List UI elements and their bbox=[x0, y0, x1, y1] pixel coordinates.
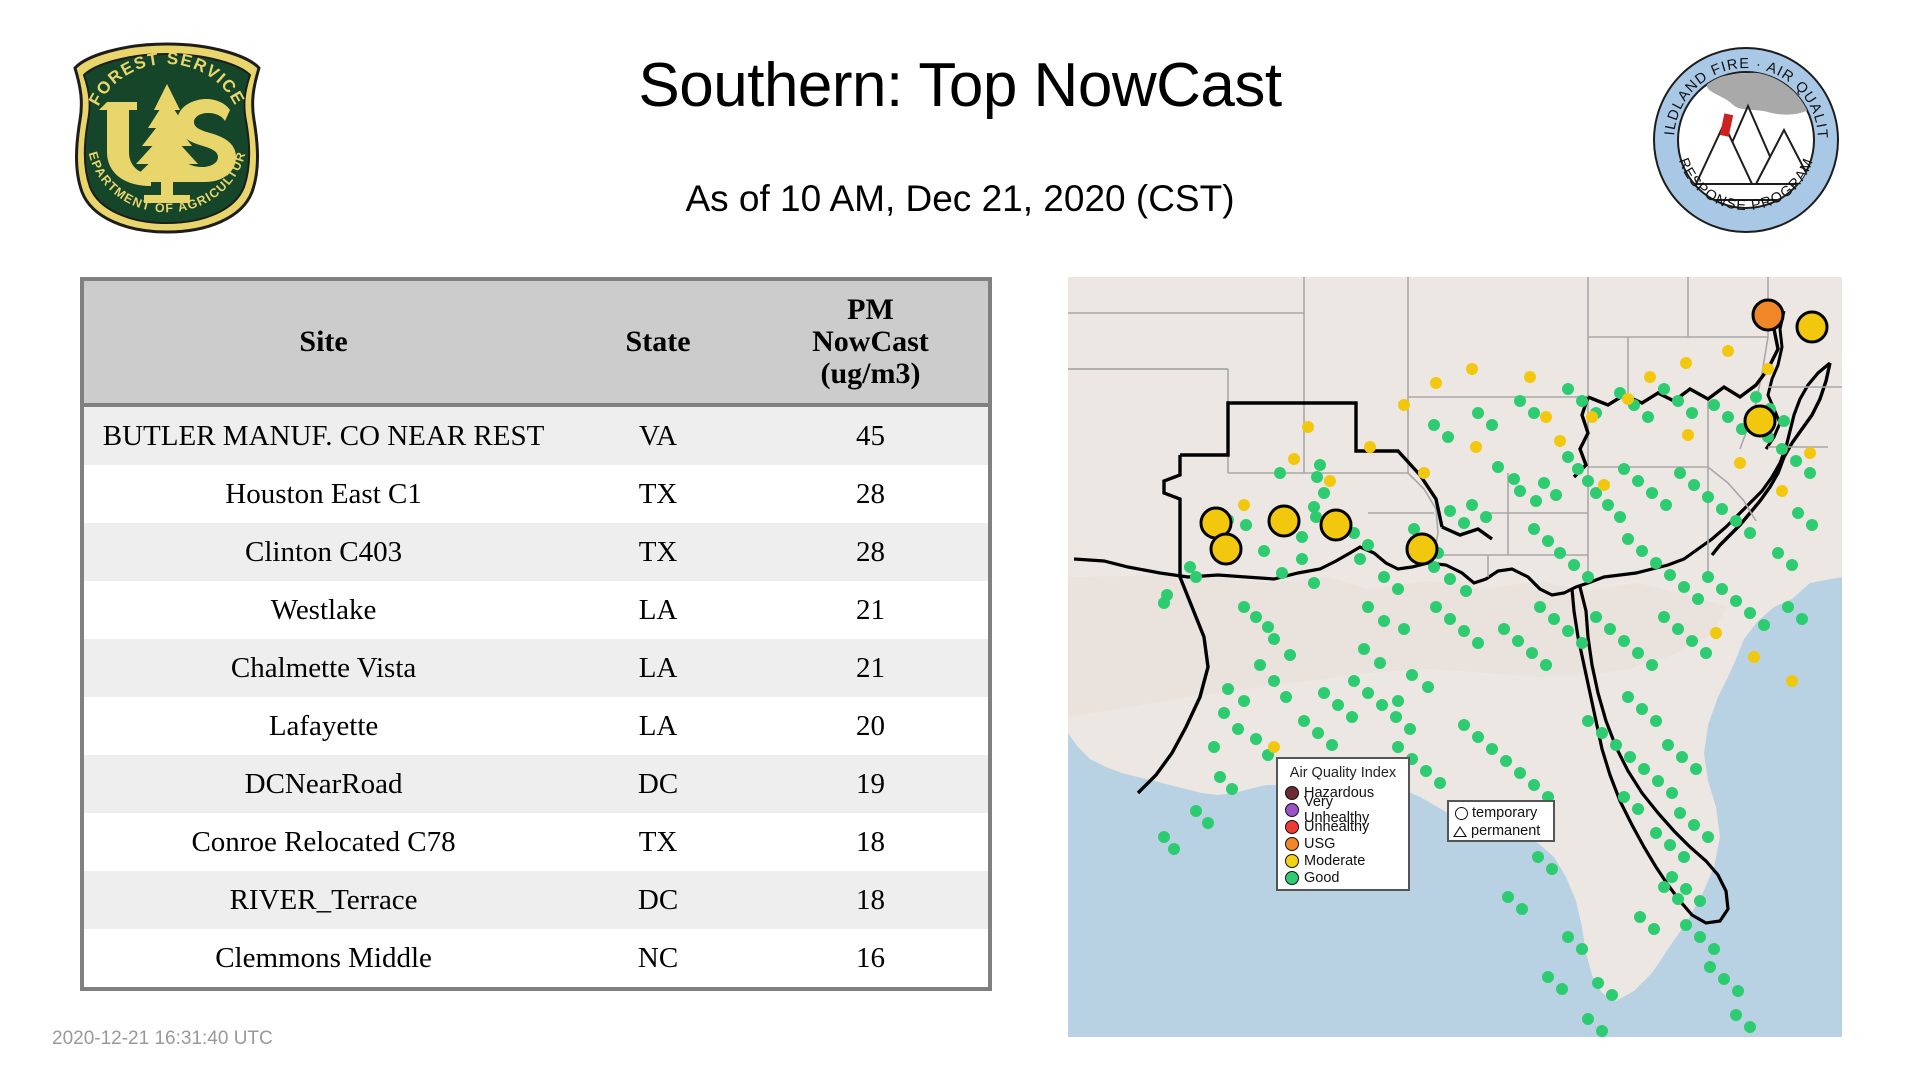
monitor-dot-good[interactable] bbox=[1308, 577, 1320, 589]
cell-state: NC bbox=[563, 929, 753, 987]
monitor-dot-good[interactable] bbox=[1658, 881, 1670, 893]
monitor-dot-good[interactable] bbox=[1604, 623, 1616, 635]
monitor-dot-good[interactable] bbox=[1750, 391, 1762, 403]
monitor-dot-good[interactable] bbox=[1686, 407, 1698, 419]
monitor-dot-good[interactable] bbox=[1362, 687, 1374, 699]
monitor-dot-good[interactable] bbox=[1662, 739, 1674, 751]
monitor-dot-moderate[interactable] bbox=[1364, 441, 1376, 453]
monitor-dot-good[interactable] bbox=[1618, 791, 1630, 803]
monitor-dot-good[interactable] bbox=[1576, 395, 1588, 407]
monitor-dot-good[interactable] bbox=[1562, 625, 1574, 637]
monitor-dot-good[interactable] bbox=[1576, 637, 1588, 649]
monitor-dot-good[interactable] bbox=[1576, 943, 1588, 955]
monitor-dot-good[interactable] bbox=[1548, 613, 1560, 625]
monitor-dot-good[interactable] bbox=[1512, 635, 1524, 647]
cell-pm-nowcast: 18 bbox=[753, 813, 988, 871]
monitor-dot-good[interactable] bbox=[1782, 601, 1794, 613]
monitor-dot-moderate[interactable] bbox=[1804, 447, 1816, 459]
monitor-dot-good[interactable] bbox=[1392, 695, 1404, 707]
table-row[interactable]: Houston East C1TX28 bbox=[84, 465, 988, 523]
forest-service-logo: FOREST SERVICE DEPARTMENT OF AGRICULTURE bbox=[62, 40, 272, 235]
monitor-dot-good[interactable] bbox=[1254, 659, 1266, 671]
monitor-dot-good[interactable] bbox=[1744, 1021, 1756, 1033]
monitor-dot-good[interactable] bbox=[1318, 487, 1330, 499]
monitor-dot-good[interactable] bbox=[1658, 611, 1670, 623]
cell-pm-nowcast: 21 bbox=[753, 639, 988, 697]
monitor-dot-good[interactable] bbox=[1526, 647, 1538, 659]
monitor-dot-good[interactable] bbox=[1672, 893, 1684, 905]
monitor-dot-moderate[interactable] bbox=[1776, 485, 1788, 497]
monitor-dot-good[interactable] bbox=[1262, 621, 1274, 633]
monitor-dot-good[interactable] bbox=[1480, 511, 1492, 523]
monitor-dot-good[interactable] bbox=[1390, 711, 1402, 723]
monitor-dot-moderate[interactable] bbox=[1398, 399, 1410, 411]
footer-timestamp: 2020-12-21 16:31:40 UTC bbox=[52, 1028, 273, 1050]
monitor-dot-good[interactable] bbox=[1202, 817, 1214, 829]
monitor-dot-good[interactable] bbox=[1362, 539, 1374, 551]
legend-label-temporary: temporary bbox=[1472, 805, 1537, 821]
monitor-dot-good[interactable] bbox=[1650, 715, 1662, 727]
monitor-dot-good[interactable] bbox=[1556, 983, 1568, 995]
monitor-dot-good[interactable] bbox=[1214, 771, 1226, 783]
monitor-dot-good[interactable] bbox=[1208, 741, 1220, 753]
cell-state: TX bbox=[563, 813, 753, 871]
monitor-dot-good[interactable] bbox=[1284, 649, 1296, 661]
cell-site: Houston East C1 bbox=[84, 465, 563, 523]
monitor-dot-highlighted-moderate[interactable] bbox=[1321, 510, 1351, 540]
monitor-dot-good[interactable] bbox=[1458, 517, 1470, 529]
monitor-dot-good[interactable] bbox=[1538, 477, 1550, 489]
monitor-dot-moderate[interactable] bbox=[1268, 741, 1280, 753]
monitor-dot-good[interactable] bbox=[1732, 985, 1744, 997]
monitor-dot-good[interactable] bbox=[1168, 843, 1180, 855]
monitor-dot-good[interactable] bbox=[1680, 883, 1692, 895]
column-header-state[interactable]: State bbox=[563, 281, 753, 405]
monitor-dot-good[interactable] bbox=[1190, 571, 1202, 583]
monitor-dot-good[interactable] bbox=[1776, 443, 1788, 455]
aqi-swatch-icon bbox=[1285, 854, 1299, 868]
monitor-dot-good[interactable] bbox=[1568, 559, 1580, 571]
monitor-dot-good[interactable] bbox=[1582, 571, 1594, 583]
monitor-dot-good[interactable] bbox=[1158, 831, 1170, 843]
monitor-dot-good[interactable] bbox=[1596, 1025, 1608, 1037]
monitor-dot-good[interactable] bbox=[1392, 741, 1404, 753]
monitor-dot-good[interactable] bbox=[1648, 923, 1660, 935]
monitor-dot-highlighted-moderate[interactable] bbox=[1211, 534, 1241, 564]
aqi-swatch-icon bbox=[1285, 871, 1299, 885]
air-quality-map[interactable] bbox=[1068, 277, 1842, 1037]
monitor-dot-good[interactable] bbox=[1562, 931, 1574, 943]
monitor-dot-good[interactable] bbox=[1508, 473, 1520, 485]
monitor-dot-moderate[interactable] bbox=[1418, 467, 1430, 479]
cell-state: TX bbox=[563, 465, 753, 523]
aqi-legend-item: Moderate bbox=[1285, 852, 1401, 869]
monitor-dot-good[interactable] bbox=[1702, 491, 1714, 503]
monitor-dot-good[interactable] bbox=[1158, 597, 1170, 609]
monitor-dot-moderate[interactable] bbox=[1680, 357, 1692, 369]
monitor-dot-good[interactable] bbox=[1744, 527, 1756, 539]
monitor-dot-moderate[interactable] bbox=[1722, 345, 1734, 357]
monitor-dot-good[interactable] bbox=[1346, 711, 1358, 723]
table-row[interactable]: RIVER_TerraceDC18 bbox=[84, 871, 988, 929]
monitor-dot-good[interactable] bbox=[1694, 931, 1706, 943]
monitor-dot-moderate[interactable] bbox=[1288, 453, 1300, 465]
aqi-legend-rows: HazardousVery UnhealthyUnhealthyUSGModer… bbox=[1285, 784, 1401, 886]
monitor-dot-good[interactable] bbox=[1500, 755, 1512, 767]
monitor-dot-good[interactable] bbox=[1678, 851, 1690, 863]
table-row[interactable]: Clemmons MiddleNC16 bbox=[84, 929, 988, 987]
aqi-legend-title: Air Quality Index bbox=[1285, 765, 1401, 781]
monitor-dot-good[interactable] bbox=[1540, 659, 1552, 671]
monitor-dot-good[interactable] bbox=[1222, 683, 1234, 695]
monitor-dot-good[interactable] bbox=[1274, 467, 1286, 479]
monitor-dot-good[interactable] bbox=[1786, 559, 1798, 571]
monitor-dot-good[interactable] bbox=[1804, 467, 1816, 479]
monitor-dot-good[interactable] bbox=[1618, 635, 1630, 647]
monitor-dot-good[interactable] bbox=[1672, 395, 1684, 407]
monitor-dot-good[interactable] bbox=[1280, 691, 1292, 703]
monitor-dot-good[interactable] bbox=[1378, 615, 1390, 627]
monitor-dot-good[interactable] bbox=[1406, 669, 1418, 681]
monitor-dot-good[interactable] bbox=[1374, 657, 1386, 669]
monitor-dot-moderate[interactable] bbox=[1540, 411, 1552, 423]
monitor-dot-good[interactable] bbox=[1650, 557, 1662, 569]
monitor-dot-good[interactable] bbox=[1240, 519, 1252, 531]
monitor-dot-good[interactable] bbox=[1700, 647, 1712, 659]
monitor-dot-good[interactable] bbox=[1672, 623, 1684, 635]
monitor-dot-good[interactable] bbox=[1444, 613, 1456, 625]
cell-pm-nowcast: 18 bbox=[753, 871, 988, 929]
monitor-dot-good[interactable] bbox=[1650, 827, 1662, 839]
monitor-dot-good[interactable] bbox=[1514, 395, 1526, 407]
monitor-dot-good[interactable] bbox=[1398, 623, 1410, 635]
aqi-legend-item: Very Unhealthy bbox=[1285, 801, 1401, 818]
monitor-dot-good[interactable] bbox=[1622, 691, 1634, 703]
monitor-dot-good[interactable] bbox=[1778, 415, 1790, 427]
page-subtitle: As of 10 AM, Dec 21, 2020 (CST) bbox=[430, 178, 1490, 220]
temporary-circle-icon bbox=[1455, 807, 1468, 820]
monitor-dot-good[interactable] bbox=[1646, 487, 1658, 499]
table-row[interactable]: WestlakeLA21 bbox=[84, 581, 988, 639]
monitor-dot-good[interactable] bbox=[1546, 863, 1558, 875]
monitor-dot-good[interactable] bbox=[1646, 659, 1658, 671]
monitor-dot-good[interactable] bbox=[1472, 407, 1484, 419]
monitor-dot-good[interactable] bbox=[1664, 839, 1676, 851]
monitor-dot-good[interactable] bbox=[1444, 573, 1456, 585]
monitor-dot-good[interactable] bbox=[1542, 535, 1554, 547]
monitor-dot-good[interactable] bbox=[1562, 383, 1574, 395]
monitor-dot-good[interactable] bbox=[1434, 777, 1446, 789]
monitor-dot-good[interactable] bbox=[1258, 545, 1270, 557]
aqi-swatch-icon bbox=[1285, 820, 1299, 834]
monitor-dot-good[interactable] bbox=[1514, 485, 1526, 497]
monitor-dot-good[interactable] bbox=[1378, 571, 1390, 583]
aqi-legend: Air Quality Index HazardousVery Unhealth… bbox=[1276, 757, 1410, 891]
aqi-legend-label: USG bbox=[1304, 836, 1335, 852]
table-row[interactable]: Clinton C403TX28 bbox=[84, 523, 988, 581]
monitor-dot-good[interactable] bbox=[1704, 961, 1716, 973]
monitor-dot-good[interactable] bbox=[1276, 567, 1288, 579]
nowcast-table-container: Site State PM NowCast (ug/m3) BUTLER MAN… bbox=[80, 277, 992, 991]
table-head: Site State PM NowCast (ug/m3) bbox=[84, 281, 988, 405]
monitor-dot-good[interactable] bbox=[1718, 973, 1730, 985]
monitor-dot-good[interactable] bbox=[1404, 723, 1416, 735]
monitor-dot-good[interactable] bbox=[1314, 459, 1326, 471]
monitor-dot-good[interactable] bbox=[1472, 637, 1484, 649]
monitor-dot-good[interactable] bbox=[1610, 739, 1622, 751]
monitor-dot-moderate[interactable] bbox=[1598, 479, 1610, 491]
monitor-dot-moderate[interactable] bbox=[1762, 363, 1774, 375]
monitor-dot-good[interactable] bbox=[1528, 779, 1540, 791]
monitor-dot-good[interactable] bbox=[1806, 519, 1818, 531]
monitor-dot-good[interactable] bbox=[1238, 695, 1250, 707]
monitor-dot-good[interactable] bbox=[1702, 571, 1714, 583]
monitor-dot-moderate[interactable] bbox=[1238, 499, 1250, 511]
monitor-dot-moderate[interactable] bbox=[1682, 429, 1694, 441]
monitor-dot-good[interactable] bbox=[1636, 703, 1648, 715]
monitor-dot-good[interactable] bbox=[1326, 739, 1338, 751]
column-header-pm-nowcast[interactable]: PM NowCast (ug/m3) bbox=[753, 281, 988, 405]
monitor-dot-moderate[interactable] bbox=[1466, 363, 1478, 375]
monitor-dot-moderate[interactable] bbox=[1786, 675, 1798, 687]
monitor-dot-good[interactable] bbox=[1466, 499, 1478, 511]
monitor-dot-good[interactable] bbox=[1688, 819, 1700, 831]
monitor-dot-good[interactable] bbox=[1658, 383, 1670, 395]
monitor-dot-good[interactable] bbox=[1232, 723, 1244, 735]
monitor-dot-good[interactable] bbox=[1550, 489, 1562, 501]
monitor-dot-good[interactable] bbox=[1486, 743, 1498, 755]
cell-pm-nowcast: 45 bbox=[753, 405, 988, 465]
monitor-dot-good[interactable] bbox=[1636, 545, 1648, 557]
monitor-dot-good[interactable] bbox=[1772, 547, 1784, 559]
monitor-dot-good[interactable] bbox=[1678, 581, 1690, 593]
monitor-dot-good[interactable] bbox=[1542, 971, 1554, 983]
aqi-swatch-icon bbox=[1285, 837, 1299, 851]
legend-row-permanent: permanent bbox=[1453, 822, 1549, 840]
monitor-dot-good[interactable] bbox=[1268, 675, 1280, 687]
aqi-legend-label: Good bbox=[1304, 870, 1339, 886]
monitor-dot-good[interactable] bbox=[1430, 601, 1442, 613]
aqi-swatch-icon bbox=[1285, 803, 1299, 817]
monitor-dot-good[interactable] bbox=[1572, 463, 1584, 475]
table-row[interactable]: BUTLER MANUF. CO NEAR RESTVA45 bbox=[84, 405, 988, 465]
monitor-dot-good[interactable] bbox=[1582, 1013, 1594, 1025]
monitor-dot-good[interactable] bbox=[1694, 895, 1706, 907]
monitor-dot-good[interactable] bbox=[1554, 547, 1566, 559]
monitor-dot-moderate[interactable] bbox=[1734, 457, 1746, 469]
cell-site: Lafayette bbox=[84, 697, 563, 755]
monitor-dot-good[interactable] bbox=[1692, 593, 1704, 605]
monitor-dot-good[interactable] bbox=[1592, 977, 1604, 989]
monitor-dot-good[interactable] bbox=[1392, 583, 1404, 595]
monitor-dot-good[interactable] bbox=[1582, 475, 1594, 487]
monitor-dot-good[interactable] bbox=[1674, 807, 1686, 819]
cell-pm-nowcast: 19 bbox=[753, 755, 988, 813]
monitor-dot-good[interactable] bbox=[1730, 595, 1742, 607]
monitor-dot-good[interactable] bbox=[1590, 611, 1602, 623]
monitor-dot-good[interactable] bbox=[1354, 553, 1366, 565]
monitor-dot-good[interactable] bbox=[1708, 399, 1720, 411]
monitor-dot-good[interactable] bbox=[1358, 643, 1370, 655]
monitor-dot-good[interactable] bbox=[1758, 619, 1770, 631]
monitor-dot-good[interactable] bbox=[1362, 601, 1374, 613]
monitor-dot-good[interactable] bbox=[1642, 411, 1654, 423]
monitor-dot-good[interactable] bbox=[1632, 475, 1644, 487]
monitor-dot-highlighted-moderate[interactable] bbox=[1745, 406, 1775, 436]
monitor-dot-good[interactable] bbox=[1318, 687, 1330, 699]
cell-site: Conroe Relocated C78 bbox=[84, 813, 563, 871]
monitor-dot-good[interactable] bbox=[1238, 601, 1250, 613]
monitor-dot-good[interactable] bbox=[1716, 503, 1728, 515]
monitor-dot-good[interactable] bbox=[1472, 731, 1484, 743]
monitor-dot-moderate[interactable] bbox=[1430, 377, 1442, 389]
monitor-dot-highlighted-moderate[interactable] bbox=[1797, 312, 1827, 342]
monitor-dot-good[interactable] bbox=[1420, 765, 1432, 777]
monitor-dot-good[interactable] bbox=[1634, 911, 1646, 923]
cell-site: Clinton C403 bbox=[84, 523, 563, 581]
monitor-dot-good[interactable] bbox=[1298, 715, 1310, 727]
table-row[interactable]: DCNearRoadDC19 bbox=[84, 755, 988, 813]
column-header-site[interactable]: Site bbox=[84, 281, 563, 405]
monitor-dot-good[interactable] bbox=[1632, 803, 1644, 815]
monitor-dot-good[interactable] bbox=[1652, 775, 1664, 787]
monitor-dot-good[interactable] bbox=[1534, 601, 1546, 613]
monitor-dot-good[interactable] bbox=[1622, 533, 1634, 545]
monitor-dot-good[interactable] bbox=[1676, 751, 1688, 763]
monitor-dot-good[interactable] bbox=[1226, 783, 1238, 795]
legend-label-permanent: permanent bbox=[1471, 823, 1540, 839]
monitor-dot-good[interactable] bbox=[1614, 511, 1626, 523]
monitor-dot-moderate[interactable] bbox=[1748, 651, 1760, 663]
monitor-dot-good[interactable] bbox=[1730, 1009, 1742, 1021]
monitor-dot-good[interactable] bbox=[1532, 851, 1544, 863]
monitor-dot-good[interactable] bbox=[1624, 751, 1636, 763]
monitor-dot-good[interactable] bbox=[1638, 763, 1650, 775]
monitor-dot-good[interactable] bbox=[1708, 943, 1720, 955]
monitor-dot-good[interactable] bbox=[1528, 523, 1540, 535]
monitor-dot-moderate[interactable] bbox=[1586, 411, 1598, 423]
monitor-dot-highlighted-usg[interactable] bbox=[1753, 300, 1783, 330]
monitor-dot-good[interactable] bbox=[1218, 707, 1230, 719]
monitor-dot-good[interactable] bbox=[1674, 467, 1686, 479]
monitor-dot-good[interactable] bbox=[1618, 463, 1630, 475]
monitor-dot-good[interactable] bbox=[1444, 505, 1456, 517]
monitor-dot-good[interactable] bbox=[1332, 699, 1344, 711]
monitor-dot-good[interactable] bbox=[1686, 635, 1698, 647]
monitor-dot-good[interactable] bbox=[1582, 715, 1594, 727]
monitor-dot-good[interactable] bbox=[1492, 461, 1504, 473]
monitor-dot-good[interactable] bbox=[1722, 411, 1734, 423]
monitor-dot-moderate[interactable] bbox=[1622, 393, 1634, 405]
cell-site: BUTLER MANUF. CO NEAR REST bbox=[84, 405, 563, 465]
monitor-dot-good[interactable] bbox=[1502, 891, 1514, 903]
table-row[interactable]: LafayetteLA20 bbox=[84, 697, 988, 755]
monitor-dot-good[interactable] bbox=[1562, 451, 1574, 463]
monitor-dot-moderate[interactable] bbox=[1644, 371, 1656, 383]
monitor-dot-good[interactable] bbox=[1250, 733, 1262, 745]
monitor-dot-good[interactable] bbox=[1666, 787, 1678, 799]
monitor-dot-moderate[interactable] bbox=[1524, 371, 1536, 383]
monitor-dot-good[interactable] bbox=[1422, 681, 1434, 693]
table-header-row: Site State PM NowCast (ug/m3) bbox=[84, 281, 988, 405]
monitor-dot-good[interactable] bbox=[1606, 989, 1618, 1001]
monitor-dot-moderate[interactable] bbox=[1554, 435, 1566, 447]
monitor-dot-good[interactable] bbox=[1376, 699, 1388, 711]
monitor-dot-good[interactable] bbox=[1458, 719, 1470, 731]
site-type-legend: temporary permanent bbox=[1447, 800, 1555, 842]
monitor-dot-good[interactable] bbox=[1790, 455, 1802, 467]
monitor-dot-good[interactable] bbox=[1530, 495, 1542, 507]
monitor-dot-good[interactable] bbox=[1602, 499, 1614, 511]
monitor-dot-good[interactable] bbox=[1528, 407, 1540, 419]
monitor-dot-good[interactable] bbox=[1514, 767, 1526, 779]
cell-site: DCNearRoad bbox=[84, 755, 563, 813]
monitor-dot-good[interactable] bbox=[1680, 919, 1692, 931]
monitor-dot-good[interactable] bbox=[1268, 633, 1280, 645]
monitor-dot-good[interactable] bbox=[1664, 569, 1676, 581]
page-title: Southern: Top NowCast bbox=[430, 50, 1490, 121]
cell-state: LA bbox=[563, 639, 753, 697]
monitor-dot-good[interactable] bbox=[1730, 515, 1742, 527]
monitor-dot-good[interactable] bbox=[1660, 499, 1672, 511]
monitor-dot-good[interactable] bbox=[1666, 871, 1678, 883]
monitor-dot-good[interactable] bbox=[1308, 501, 1320, 513]
monitor-dot-good[interactable] bbox=[1688, 479, 1700, 491]
cell-pm-nowcast: 20 bbox=[753, 697, 988, 755]
cell-pm-nowcast: 21 bbox=[753, 581, 988, 639]
monitor-dot-good[interactable] bbox=[1792, 507, 1804, 519]
table-row[interactable]: Conroe Relocated C78TX18 bbox=[84, 813, 988, 871]
monitor-dot-good[interactable] bbox=[1190, 805, 1202, 817]
monitor-dot-moderate[interactable] bbox=[1710, 627, 1722, 639]
cell-site: Chalmette Vista bbox=[84, 639, 563, 697]
monitor-dot-good[interactable] bbox=[1716, 583, 1728, 595]
monitor-dot-good[interactable] bbox=[1632, 647, 1644, 659]
cell-state: LA bbox=[563, 581, 753, 639]
table-row[interactable]: Chalmette VistaLA21 bbox=[84, 639, 988, 697]
monitor-dot-good[interactable] bbox=[1690, 763, 1702, 775]
monitor-dot-good[interactable] bbox=[1296, 553, 1308, 565]
monitor-dot-good[interactable] bbox=[1516, 903, 1528, 915]
monitor-dot-good[interactable] bbox=[1311, 471, 1323, 483]
monitor-dot-good[interactable] bbox=[1296, 531, 1308, 543]
monitor-dot-moderate[interactable] bbox=[1302, 421, 1314, 433]
monitor-dot-good[interactable] bbox=[1460, 585, 1472, 597]
monitor-dot-good[interactable] bbox=[1458, 625, 1470, 637]
monitor-dot-good[interactable] bbox=[1744, 607, 1756, 619]
monitor-dot-highlighted-moderate[interactable] bbox=[1407, 534, 1437, 564]
monitor-dot-good[interactable] bbox=[1312, 727, 1324, 739]
cell-state: LA bbox=[563, 697, 753, 755]
monitor-dot-highlighted-moderate[interactable] bbox=[1269, 506, 1299, 536]
monitor-dot-moderate[interactable] bbox=[1324, 475, 1336, 487]
permanent-triangle-icon bbox=[1453, 826, 1467, 837]
monitor-dot-good[interactable] bbox=[1498, 623, 1510, 635]
monitor-dot-good[interactable] bbox=[1596, 727, 1608, 739]
monitor-dot-good[interactable] bbox=[1184, 561, 1196, 573]
monitor-dot-good[interactable] bbox=[1428, 419, 1440, 431]
monitor-dot-good[interactable] bbox=[1348, 675, 1360, 687]
monitor-dot-good[interactable] bbox=[1442, 431, 1454, 443]
monitor-dot-moderate[interactable] bbox=[1470, 441, 1482, 453]
monitor-dot-good[interactable] bbox=[1486, 419, 1498, 431]
monitor-dot-good[interactable] bbox=[1702, 831, 1714, 843]
nowcast-table: Site State PM NowCast (ug/m3) BUTLER MAN… bbox=[84, 281, 988, 987]
cell-pm-nowcast: 28 bbox=[753, 523, 988, 581]
monitor-dot-good[interactable] bbox=[1796, 613, 1808, 625]
monitor-dot-good[interactable] bbox=[1250, 611, 1262, 623]
aqi-legend-label: Unhealthy bbox=[1304, 819, 1369, 835]
